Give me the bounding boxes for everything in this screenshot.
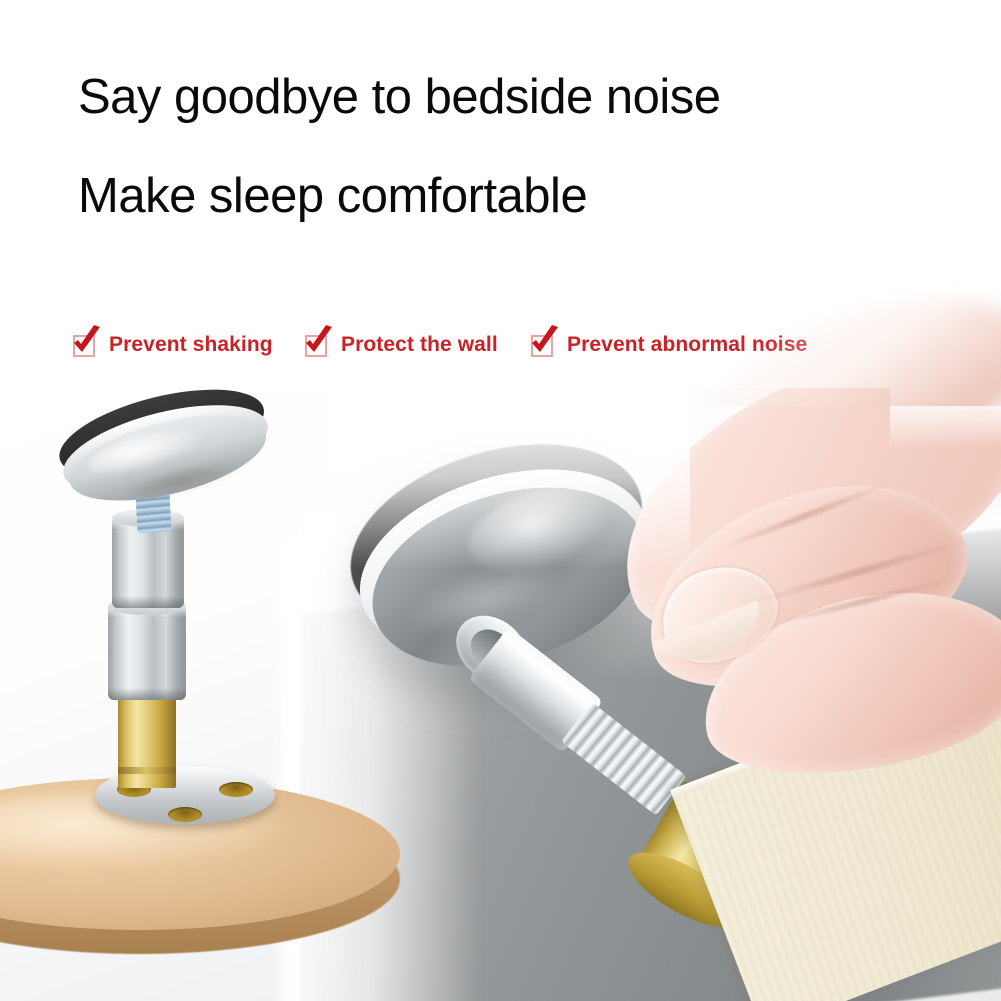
hex-nut-lower <box>108 604 186 700</box>
product-photo-stage <box>0 388 1001 1001</box>
gold-barrel <box>118 688 176 788</box>
feature-list: Prevent shaking Protect the wall Prevent… <box>70 322 950 368</box>
flange-screw-hole <box>219 782 253 797</box>
feature-item-prevent-abnormal-noise: Prevent abnormal noise <box>528 322 807 368</box>
photo-top-fade <box>890 388 1001 448</box>
barrel-band <box>118 767 176 774</box>
feature-label: Prevent abnormal noise <box>567 333 807 357</box>
check-icon <box>70 331 100 359</box>
right-product-photo <box>330 388 1001 1001</box>
flange-screw-hole <box>168 807 202 822</box>
check-icon <box>302 331 332 359</box>
photo-left-fade <box>330 388 690 568</box>
headline-line-2: Make sleep comfortable <box>78 172 587 221</box>
headline-line-1: Say goodbye to bedside noise <box>78 73 721 122</box>
hex-nut-body <box>108 604 186 700</box>
check-icon <box>528 331 558 359</box>
feature-label: Prevent shaking <box>109 333 273 357</box>
feature-item-prevent-shaking: Prevent shaking <box>70 322 273 368</box>
rubber-head-disc <box>51 388 283 538</box>
checkmark-glyph <box>302 325 334 359</box>
feature-label: Protect the wall <box>341 333 498 357</box>
checkmark-glyph <box>70 325 102 359</box>
feature-item-protect-the-wall: Protect the wall <box>302 322 498 368</box>
checkmark-glyph <box>528 325 560 359</box>
product-marketing-image: Say goodbye to bedside noise Make sleep … <box>0 0 1001 1001</box>
